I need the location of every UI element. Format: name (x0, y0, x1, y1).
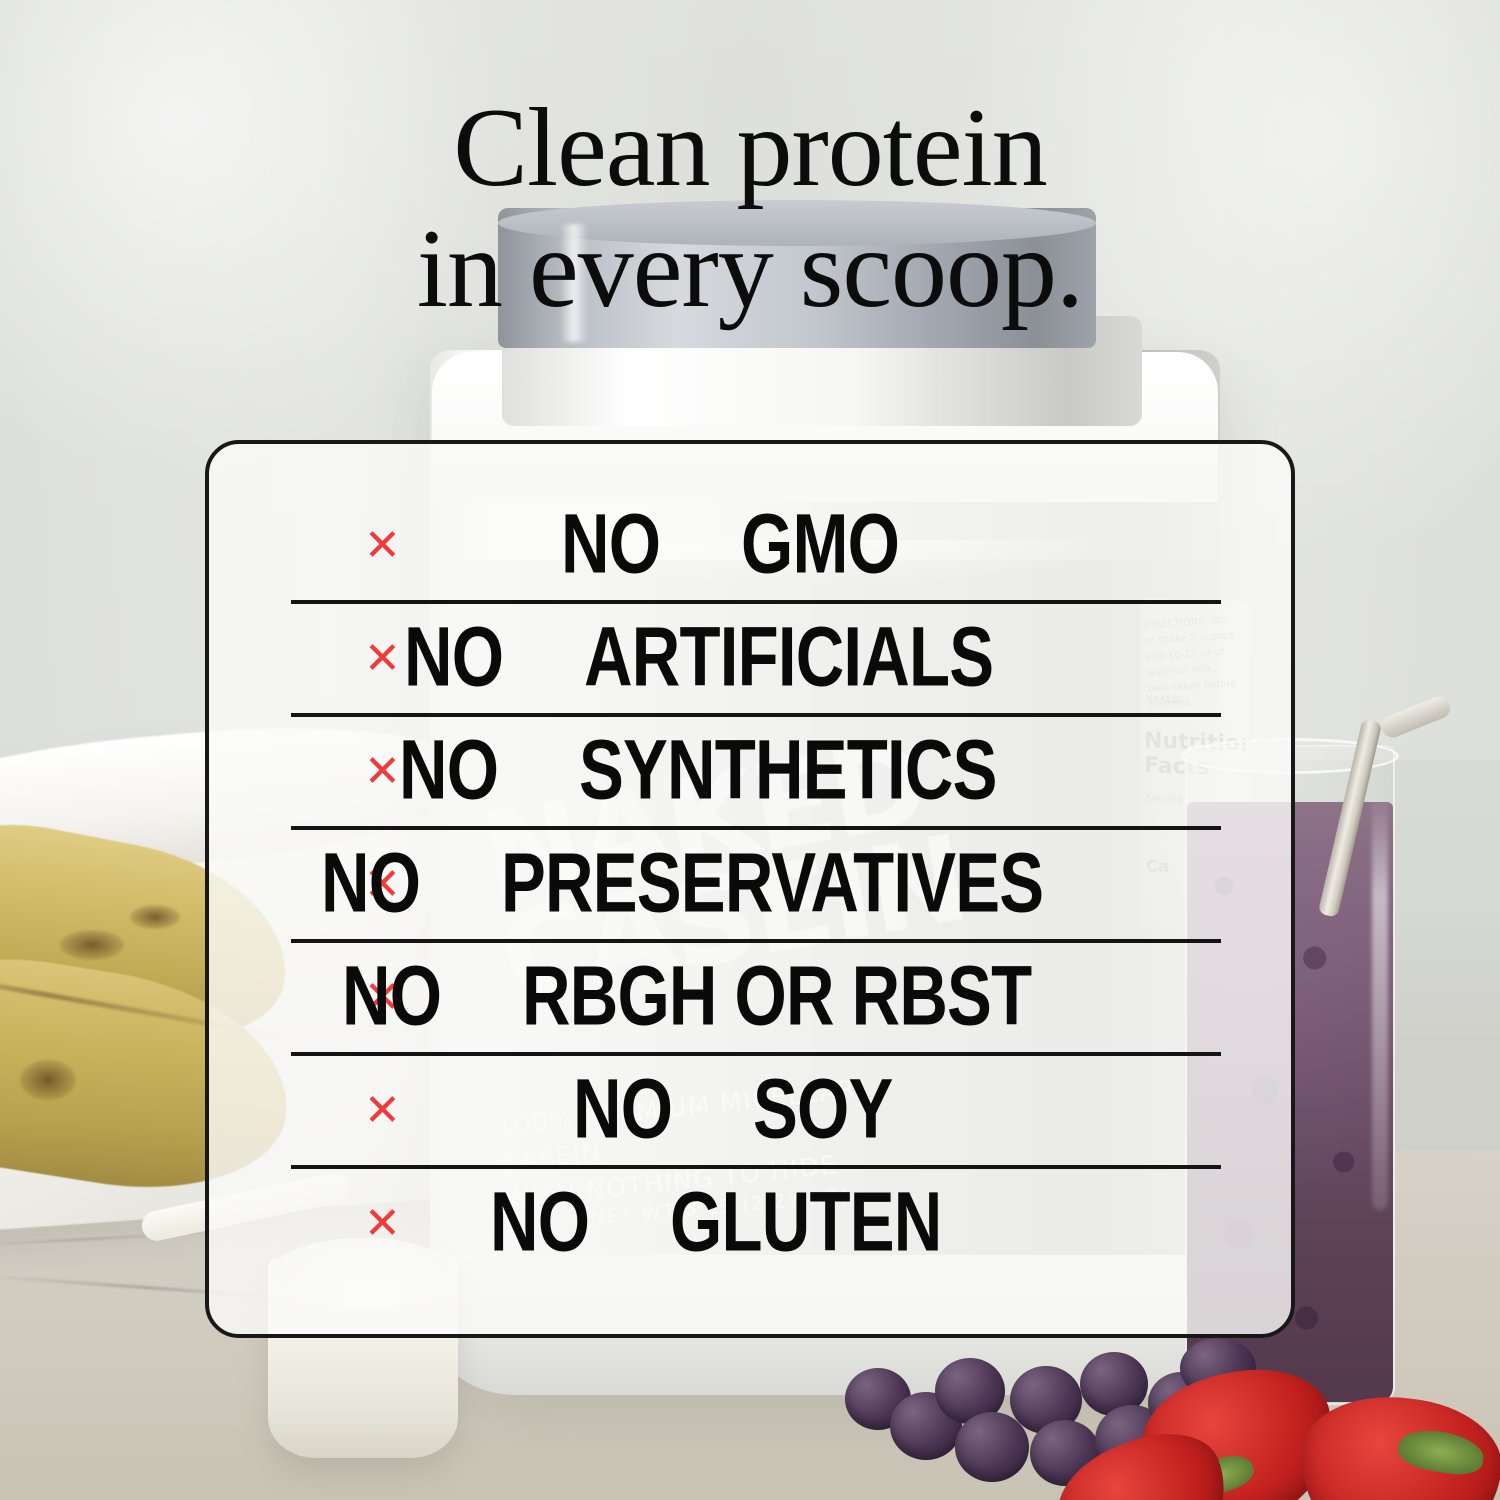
claim-prefix: NO (404, 608, 548, 705)
claim-text: NOSOY (209, 1060, 1291, 1157)
claim-text: NOGMO (209, 495, 1291, 592)
claim-label: SYNTHETICS (579, 721, 997, 818)
claim-row: ✕NOSYNTHETICS (209, 715, 1291, 828)
claim-prefix: NO (490, 1173, 634, 1270)
claim-row: ✕NOSOY (209, 1054, 1291, 1167)
banana-spot (60, 930, 124, 960)
headline-line-1: Clean protein (453, 86, 1046, 210)
page-headline: Clean protein in every scoop. (0, 88, 1500, 330)
claim-label: RBGH OR RBST (522, 947, 1031, 1044)
claim-label: PRESERVATIVES (501, 834, 1043, 931)
claim-text: NOGLUTEN (209, 1173, 1291, 1270)
claim-prefix: NO (573, 1060, 717, 1157)
claim-text: NORBGH OR RBST (209, 947, 1291, 1044)
claim-label: SOY (753, 1060, 893, 1157)
claim-row: ✕NORBGH OR RBST (209, 941, 1291, 1054)
claim-prefix: NO (561, 495, 705, 592)
claim-row: ✕NOPRESERVATIVES (209, 828, 1291, 941)
banana-spot (130, 905, 180, 929)
claim-text: NOPRESERVATIVES (209, 834, 1291, 931)
claim-row: ✕NOGLUTEN (209, 1167, 1291, 1280)
claim-row: ✕NOARTIFICIALS (209, 602, 1291, 715)
claim-label: GMO (741, 495, 899, 592)
claim-text: NOSYNTHETICS (209, 721, 1291, 818)
claim-text: NOARTIFICIALS (209, 608, 1291, 705)
glass-highlight (1372, 790, 1388, 1210)
claim-label: ARTIFICIALS (584, 608, 993, 705)
headline-line-2: in every scoop. (0, 209, 1500, 330)
claim-row: ✕NOGMO (209, 489, 1291, 602)
claim-prefix: NO (321, 834, 465, 931)
clean-protein-claims-panel: ✕NOGMO✕NOARTIFICIALS✕NOSYNTHETICS✕NOPRES… (205, 440, 1295, 1338)
claim-prefix: NO (342, 947, 486, 1044)
claim-label: GLUTEN (670, 1173, 941, 1270)
claims-list: ✕NOGMO✕NOARTIFICIALS✕NOSYNTHETICS✕NOPRES… (209, 444, 1291, 1334)
claim-prefix: NO (399, 721, 543, 818)
banana-spot (20, 1060, 76, 1100)
blueberry (955, 1412, 1029, 1482)
